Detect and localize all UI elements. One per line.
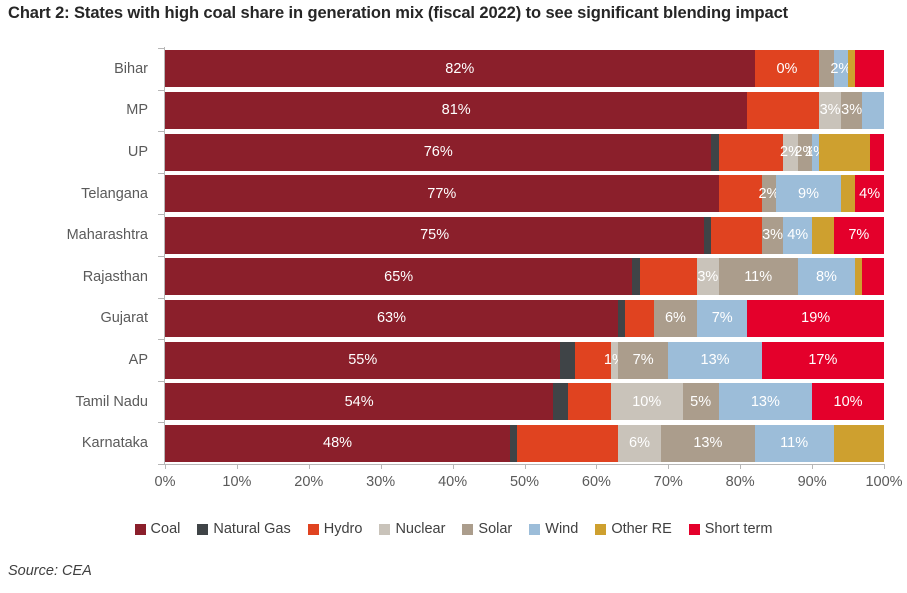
x-axis-tick xyxy=(237,464,238,469)
bar-segment-label: 11% xyxy=(744,269,772,285)
bar-segment: 10% xyxy=(812,383,884,420)
bar-segment: 2% xyxy=(783,134,797,171)
bar-segment: 82% xyxy=(165,50,755,87)
bar-segment: 3% xyxy=(841,92,863,129)
bar-row: 48%6%13%11% xyxy=(165,425,884,462)
y-axis-tick xyxy=(158,48,164,49)
bar-segment xyxy=(704,217,711,254)
bar-segment xyxy=(870,134,884,171)
bar-segment-label: 3% xyxy=(762,227,783,243)
bar-segment xyxy=(625,300,654,337)
y-axis-tick xyxy=(158,256,164,257)
bar-segment-label: 7% xyxy=(633,352,654,368)
bar-segment: 8% xyxy=(798,258,856,295)
y-axis-tick xyxy=(158,298,164,299)
bar-segment-label: 81% xyxy=(442,102,471,118)
bar-segment-label: 6% xyxy=(665,310,686,326)
bar-segment: 65% xyxy=(165,258,632,295)
legend-swatch-icon xyxy=(308,524,319,535)
bar-segment: 19% xyxy=(747,300,884,337)
bar-segment: 55% xyxy=(165,342,560,379)
bar-segment: 6% xyxy=(618,425,661,462)
y-axis-tick xyxy=(158,173,164,174)
bar-segment: 13% xyxy=(661,425,754,462)
bar-segment-label: 5% xyxy=(690,394,711,410)
bar-segment-label: 54% xyxy=(345,394,374,410)
bar-segment: 11% xyxy=(719,258,798,295)
x-axis-label: 30% xyxy=(366,474,395,490)
bar-segment xyxy=(848,50,855,87)
x-axis-label: 90% xyxy=(798,474,827,490)
y-axis-label-bihar: Bihar xyxy=(114,61,148,77)
bar-segment xyxy=(719,175,762,212)
legend-item-short-term[interactable]: Short term xyxy=(689,521,773,537)
bar-segment-label: 48% xyxy=(323,435,352,451)
bar-segment: 75% xyxy=(165,217,704,254)
legend-swatch-icon xyxy=(595,524,606,535)
bar-segment-label: 9% xyxy=(798,186,819,202)
y-axis-label-gujarat: Gujarat xyxy=(100,310,148,326)
bar-segment: 81% xyxy=(165,92,747,129)
y-axis-label-telangana: Telangana xyxy=(81,186,148,202)
bar-segment xyxy=(841,175,855,212)
bar-segment-label: 55% xyxy=(348,352,377,368)
y-axis-tick xyxy=(158,422,164,423)
bar-segment-label: 7% xyxy=(848,227,869,243)
bar-segment: 7% xyxy=(618,342,668,379)
y-axis-label-maharashtra: Maharashtra xyxy=(67,227,148,243)
bar-segment: 4% xyxy=(783,217,812,254)
bar-segment: 3% xyxy=(819,92,841,129)
x-axis-label: 50% xyxy=(510,474,539,490)
bar-segment xyxy=(855,258,862,295)
y-axis-tick xyxy=(158,464,164,465)
bar-segment-label: 13% xyxy=(693,435,722,451)
x-axis-tick xyxy=(596,464,597,469)
bar-segment-label: 8% xyxy=(816,269,837,285)
bar-segment-label: 13% xyxy=(701,352,730,368)
plot-area: 82%0%2%81%3%3%76%2%2%1%77%2%9%4%75%3%4%7… xyxy=(165,48,884,464)
bar-segment-label: 0% xyxy=(776,61,797,77)
bar-segment xyxy=(834,425,884,462)
bar-segment xyxy=(640,258,698,295)
bar-segment: 48% xyxy=(165,425,510,462)
y-axis-label-tamil-nadu: Tamil Nadu xyxy=(75,394,148,410)
bar-segment: 9% xyxy=(776,175,841,212)
y-axis-label-karnataka: Karnataka xyxy=(82,435,148,451)
bar-segment-label: 65% xyxy=(384,269,413,285)
y-axis-tick xyxy=(158,339,164,340)
bar-segment: 13% xyxy=(668,342,761,379)
bar-segment: 5% xyxy=(683,383,719,420)
legend-label: Hydro xyxy=(324,521,363,537)
bar-segment xyxy=(855,50,884,87)
bar-segment xyxy=(719,134,784,171)
x-axis-label: 60% xyxy=(582,474,611,490)
y-axis: BiharMPUPTelanganaMaharashtraRajasthanGu… xyxy=(0,48,160,464)
bar-segment: 1% xyxy=(611,342,618,379)
y-axis-label-mp: MP xyxy=(126,102,148,118)
bar-segment: 3% xyxy=(697,258,719,295)
x-axis-label: 20% xyxy=(294,474,323,490)
bar-row: 65%3%11%8% xyxy=(165,258,884,295)
legend-label: Wind xyxy=(545,521,578,537)
bar-segment: 6% xyxy=(654,300,697,337)
legend-item-solar[interactable]: Solar xyxy=(462,521,512,537)
bar-segment xyxy=(632,258,639,295)
bar-segment: 54% xyxy=(165,383,553,420)
bar-segment-label: 7% xyxy=(712,310,733,326)
legend-item-coal[interactable]: Coal xyxy=(135,521,181,537)
x-axis-tick xyxy=(309,464,310,469)
x-axis-label: 70% xyxy=(654,474,683,490)
x-axis-label: 40% xyxy=(438,474,467,490)
legend-label: Other RE xyxy=(611,521,671,537)
bar-segment: 0% xyxy=(755,50,820,87)
bar-segment: 4% xyxy=(855,175,884,212)
bar-row: 63%6%7%19% xyxy=(165,300,884,337)
x-axis-label: 100% xyxy=(865,474,902,490)
y-axis-tick xyxy=(158,131,164,132)
bar-segment xyxy=(747,92,819,129)
page-title: Chart 2: States with high coal share in … xyxy=(8,4,898,23)
legend-swatch-icon xyxy=(529,524,540,535)
bar-segment xyxy=(812,217,834,254)
x-axis-tick xyxy=(884,464,885,469)
bar-segment-label: 77% xyxy=(427,186,456,202)
bar-segment: 1% xyxy=(812,134,819,171)
x-axis-tick xyxy=(740,464,741,469)
bar-row: 82%0%2% xyxy=(165,50,884,87)
legend-label: Nuclear xyxy=(395,521,445,537)
bar-segment-label: 3% xyxy=(820,102,841,118)
y-axis-label-rajasthan: Rajasthan xyxy=(83,269,148,285)
legend-swatch-icon xyxy=(135,524,146,535)
bar-segment-label: 3% xyxy=(841,102,862,118)
legend-item-natural-gas[interactable]: Natural Gas xyxy=(197,521,290,537)
bar-segment xyxy=(711,217,761,254)
legend-item-nuclear[interactable]: Nuclear xyxy=(379,521,445,537)
bar-segment-label: 4% xyxy=(787,227,808,243)
bar-segment-label: 76% xyxy=(424,144,453,160)
x-axis-label: 0% xyxy=(155,474,176,490)
legend-item-wind[interactable]: Wind xyxy=(529,521,578,537)
bar-segment-label: 13% xyxy=(751,394,780,410)
x-axis-tick xyxy=(668,464,669,469)
bar-segment xyxy=(553,383,567,420)
x-axis-label: 10% xyxy=(222,474,251,490)
bar-segment xyxy=(618,300,625,337)
bar-row: 76%2%2%1% xyxy=(165,134,884,171)
legend-label: Coal xyxy=(151,521,181,537)
bar-segment: 2% xyxy=(798,134,812,171)
bar-segment: 13% xyxy=(719,383,812,420)
bar-segment xyxy=(568,383,611,420)
y-axis-label-ap: AP xyxy=(129,352,148,368)
legend-swatch-icon xyxy=(689,524,700,535)
bar-segment xyxy=(862,92,884,129)
legend-label: Natural Gas xyxy=(213,521,290,537)
y-axis-tick xyxy=(158,381,164,382)
bar-segment xyxy=(819,50,833,87)
bar-segment xyxy=(862,258,884,295)
legend-item-other-re[interactable]: Other RE xyxy=(595,521,671,537)
x-axis-tick xyxy=(165,464,166,469)
legend-swatch-icon xyxy=(197,524,208,535)
bar-segment xyxy=(560,342,574,379)
bar-segment-label: 63% xyxy=(377,310,406,326)
bar-segment: 2% xyxy=(762,175,776,212)
bar-segment-label: 82% xyxy=(445,61,474,77)
bar-row: 55%1%7%13%17% xyxy=(165,342,884,379)
bar-segment: 3% xyxy=(762,217,784,254)
bar-segment: 7% xyxy=(834,217,884,254)
bar-segment xyxy=(517,425,618,462)
legend-label: Solar xyxy=(478,521,512,537)
bar-segment-label: 6% xyxy=(629,435,650,451)
bar-segment-label: 4% xyxy=(859,186,880,202)
bar-segment: 76% xyxy=(165,134,711,171)
legend-label: Short term xyxy=(705,521,773,537)
bar-segment: 17% xyxy=(762,342,884,379)
bar-segment: 10% xyxy=(611,383,683,420)
bar-segment xyxy=(711,134,718,171)
bar-segment-label: 17% xyxy=(808,352,837,368)
y-axis-tick xyxy=(158,214,164,215)
bar-segment: 11% xyxy=(755,425,834,462)
x-axis-tick xyxy=(525,464,526,469)
source-note: Source: CEA xyxy=(8,563,92,579)
bar-segment: 2% xyxy=(834,50,848,87)
bar-segment-label: 10% xyxy=(632,394,661,410)
bar-segment-label: 75% xyxy=(420,227,449,243)
y-axis-tick xyxy=(158,90,164,91)
bar-row: 54%10%5%13%10% xyxy=(165,383,884,420)
bar-segment-label: 10% xyxy=(834,394,863,410)
bar-segment-label: 3% xyxy=(697,269,718,285)
x-axis-tick xyxy=(453,464,454,469)
bar-segment xyxy=(575,342,611,379)
x-axis-tick xyxy=(381,464,382,469)
legend-swatch-icon xyxy=(379,524,390,535)
bar-segment: 77% xyxy=(165,175,719,212)
legend-swatch-icon xyxy=(462,524,473,535)
bar-row: 75%3%4%7% xyxy=(165,217,884,254)
bar-segment-label: 11% xyxy=(780,435,808,451)
bar-row: 77%2%9%4% xyxy=(165,175,884,212)
bar-segment xyxy=(510,425,517,462)
y-axis-label-up: UP xyxy=(128,144,148,160)
chart-legend: CoalNatural GasHydroNuclearSolarWindOthe… xyxy=(0,521,907,537)
bar-segment-label: 19% xyxy=(801,310,830,326)
bar-segment xyxy=(819,134,869,171)
legend-item-hydro[interactable]: Hydro xyxy=(308,521,363,537)
bar-segment: 7% xyxy=(697,300,747,337)
bar-segment: 63% xyxy=(165,300,618,337)
x-axis-tick xyxy=(812,464,813,469)
bar-row: 81%3%3% xyxy=(165,92,884,129)
x-axis-label: 80% xyxy=(726,474,755,490)
